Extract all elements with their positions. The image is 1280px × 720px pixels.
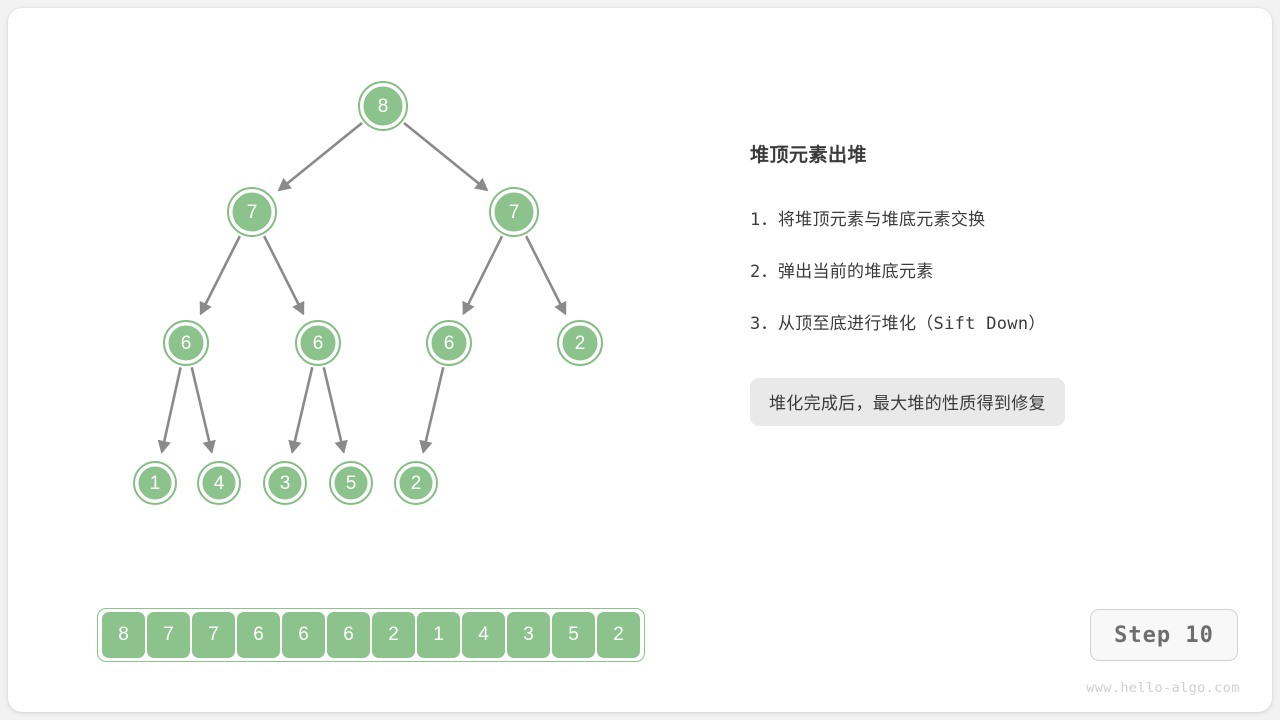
tree-node: 3 bbox=[264, 462, 306, 504]
array-cell: 6 bbox=[237, 612, 280, 658]
note-badge: 堆化完成后，最大堆的性质得到修复 bbox=[750, 378, 1065, 426]
tree-edge-arrow bbox=[404, 123, 487, 190]
array-cell: 2 bbox=[597, 612, 640, 658]
screenshot-canvas: 877666214352 877666214352 堆顶元素出堆 1．将堆顶元素… bbox=[0, 0, 1280, 720]
tree-node: 7 bbox=[228, 188, 276, 236]
tree-node: 1 bbox=[134, 462, 176, 504]
tree-node-value: 3 bbox=[280, 473, 291, 494]
steps-list: 1．将堆顶元素与堆底元素交换2．弹出当前的堆底元素3．从顶至底进行堆化（Sift… bbox=[750, 205, 1220, 334]
tree-edge-arrow bbox=[292, 367, 312, 452]
step-item-number: 2． bbox=[750, 262, 778, 282]
tree-node: 2 bbox=[395, 462, 437, 504]
step-item: 1．将堆顶元素与堆底元素交换 bbox=[750, 205, 1220, 230]
step-item-number: 1． bbox=[750, 210, 778, 230]
tree-node-value: 1 bbox=[150, 473, 161, 494]
tree-node-value: 7 bbox=[509, 202, 520, 223]
tree-node: 7 bbox=[490, 188, 538, 236]
array-cell: 4 bbox=[462, 612, 505, 658]
tree-node: 6 bbox=[296, 321, 340, 365]
array-cell: 7 bbox=[147, 612, 190, 658]
step-item-text: 将堆顶元素与堆底元素交换 bbox=[778, 210, 986, 230]
heap-tree-diagram: 877666214352 bbox=[8, 8, 708, 568]
tree-node-value: 6 bbox=[181, 333, 192, 354]
tree-node: 4 bbox=[198, 462, 240, 504]
tree-node: 5 bbox=[330, 462, 372, 504]
tree-edge-arrow bbox=[279, 123, 362, 190]
tree-node-value: 2 bbox=[575, 333, 586, 354]
tree-node-value: 5 bbox=[346, 473, 357, 494]
tree-node-value: 8 bbox=[378, 96, 389, 117]
tree-edge-arrow bbox=[201, 236, 240, 313]
watermark-url: www.hello-algo.com bbox=[1073, 680, 1253, 696]
tree-node-value: 6 bbox=[444, 333, 455, 354]
step-item-number: 3． bbox=[750, 314, 778, 334]
tree-node: 6 bbox=[164, 321, 208, 365]
array-cell: 2 bbox=[372, 612, 415, 658]
tree-node-value: 4 bbox=[214, 473, 225, 494]
tree-edge-arrow bbox=[162, 367, 181, 451]
array-cell: 7 bbox=[192, 612, 235, 658]
tree-edge-arrow bbox=[526, 236, 565, 313]
step-item: 2．弹出当前的堆底元素 bbox=[750, 257, 1220, 282]
tree-edge-arrow bbox=[192, 367, 212, 452]
tree-node-value: 7 bbox=[247, 202, 258, 223]
tree-edge-arrow bbox=[464, 236, 502, 313]
tree-edges bbox=[162, 123, 565, 452]
step-item-text: 从顶至底进行堆化（Sift Down） bbox=[778, 314, 1046, 334]
tree-nodes: 877666214352 bbox=[134, 82, 602, 504]
tree-node: 2 bbox=[558, 321, 602, 365]
tree-node-value: 2 bbox=[411, 473, 422, 494]
tree-node-value: 6 bbox=[313, 333, 324, 354]
array-cell: 6 bbox=[327, 612, 370, 658]
heap-array: 877666214352 bbox=[97, 608, 645, 662]
explanation-panel: 堆顶元素出堆 1．将堆顶元素与堆底元素交换2．弹出当前的堆底元素3．从顶至底进行… bbox=[750, 140, 1220, 426]
tree-edge-arrow bbox=[324, 367, 344, 452]
page-title: 堆顶元素出堆 bbox=[750, 140, 1220, 167]
tree-node: 8 bbox=[359, 82, 407, 130]
content-card: 877666214352 877666214352 堆顶元素出堆 1．将堆顶元素… bbox=[8, 8, 1272, 712]
array-cell: 1 bbox=[417, 612, 460, 658]
step-counter-badge: Step 10 bbox=[1090, 609, 1238, 661]
tree-node: 6 bbox=[427, 321, 471, 365]
array-cell: 8 bbox=[102, 612, 145, 658]
array-cell: 3 bbox=[507, 612, 550, 658]
step-item: 3．从顶至底进行堆化（Sift Down） bbox=[750, 309, 1220, 334]
step-item-text: 弹出当前的堆底元素 bbox=[778, 262, 934, 282]
array-cell: 5 bbox=[552, 612, 595, 658]
tree-edge-arrow bbox=[423, 367, 443, 452]
array-cell: 6 bbox=[282, 612, 325, 658]
tree-edge-arrow bbox=[264, 236, 303, 313]
